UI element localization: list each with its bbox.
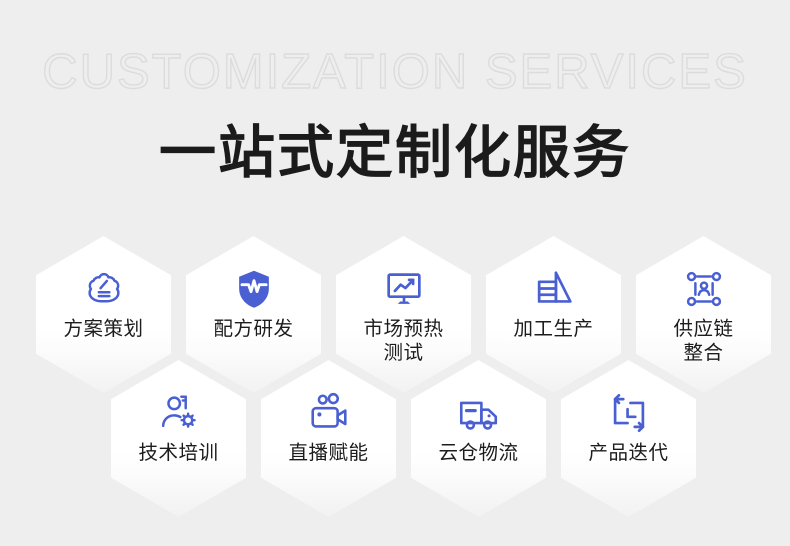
network-nodes-icon <box>681 266 727 312</box>
person-gear-icon <box>156 390 202 436</box>
service-label: 市场预热 测试 <box>363 317 443 365</box>
service-label: 配方研发 <box>213 317 293 340</box>
customization-services-banner: CUSTOMIZATION SERVICES 一站式定制化服务 方案策划 配方研… <box>0 0 790 546</box>
service-tile-livestream[interactable]: 直播赋能 <box>261 360 396 517</box>
service-label: 供应链 整合 <box>673 317 733 365</box>
service-label: 云仓物流 <box>438 441 518 464</box>
page-title: 一站式定制化服务 <box>0 107 790 189</box>
service-label: 技术培训 <box>138 441 218 464</box>
service-tile-supply-chain[interactable]: 供应链 整合 <box>636 236 771 393</box>
service-tile-manufacturing[interactable]: 加工生产 <box>486 236 621 393</box>
service-tile-plan[interactable]: 方案策划 <box>36 236 171 393</box>
service-label: 产品迭代 <box>588 441 668 464</box>
monitor-chart-icon <box>381 266 427 312</box>
factory-icon <box>531 266 577 312</box>
service-tile-iteration[interactable]: 产品迭代 <box>561 360 696 517</box>
service-label: 加工生产 <box>513 317 593 340</box>
plan-cloud-icon <box>81 266 127 312</box>
delivery-truck-icon <box>456 390 502 436</box>
iterate-refresh-icon <box>606 390 652 436</box>
service-tile-logistics[interactable]: 云仓物流 <box>411 360 546 517</box>
video-camera-icon <box>306 390 352 436</box>
outline-heading: CUSTOMIZATION SERVICES <box>0 44 790 100</box>
shield-pulse-icon <box>231 266 277 312</box>
service-tile-training[interactable]: 技术培训 <box>111 360 246 517</box>
service-label: 方案策划 <box>63 317 143 340</box>
service-label: 直播赋能 <box>288 441 368 464</box>
service-tile-market-test[interactable]: 市场预热 测试 <box>336 236 471 393</box>
service-tile-formula[interactable]: 配方研发 <box>186 236 321 393</box>
